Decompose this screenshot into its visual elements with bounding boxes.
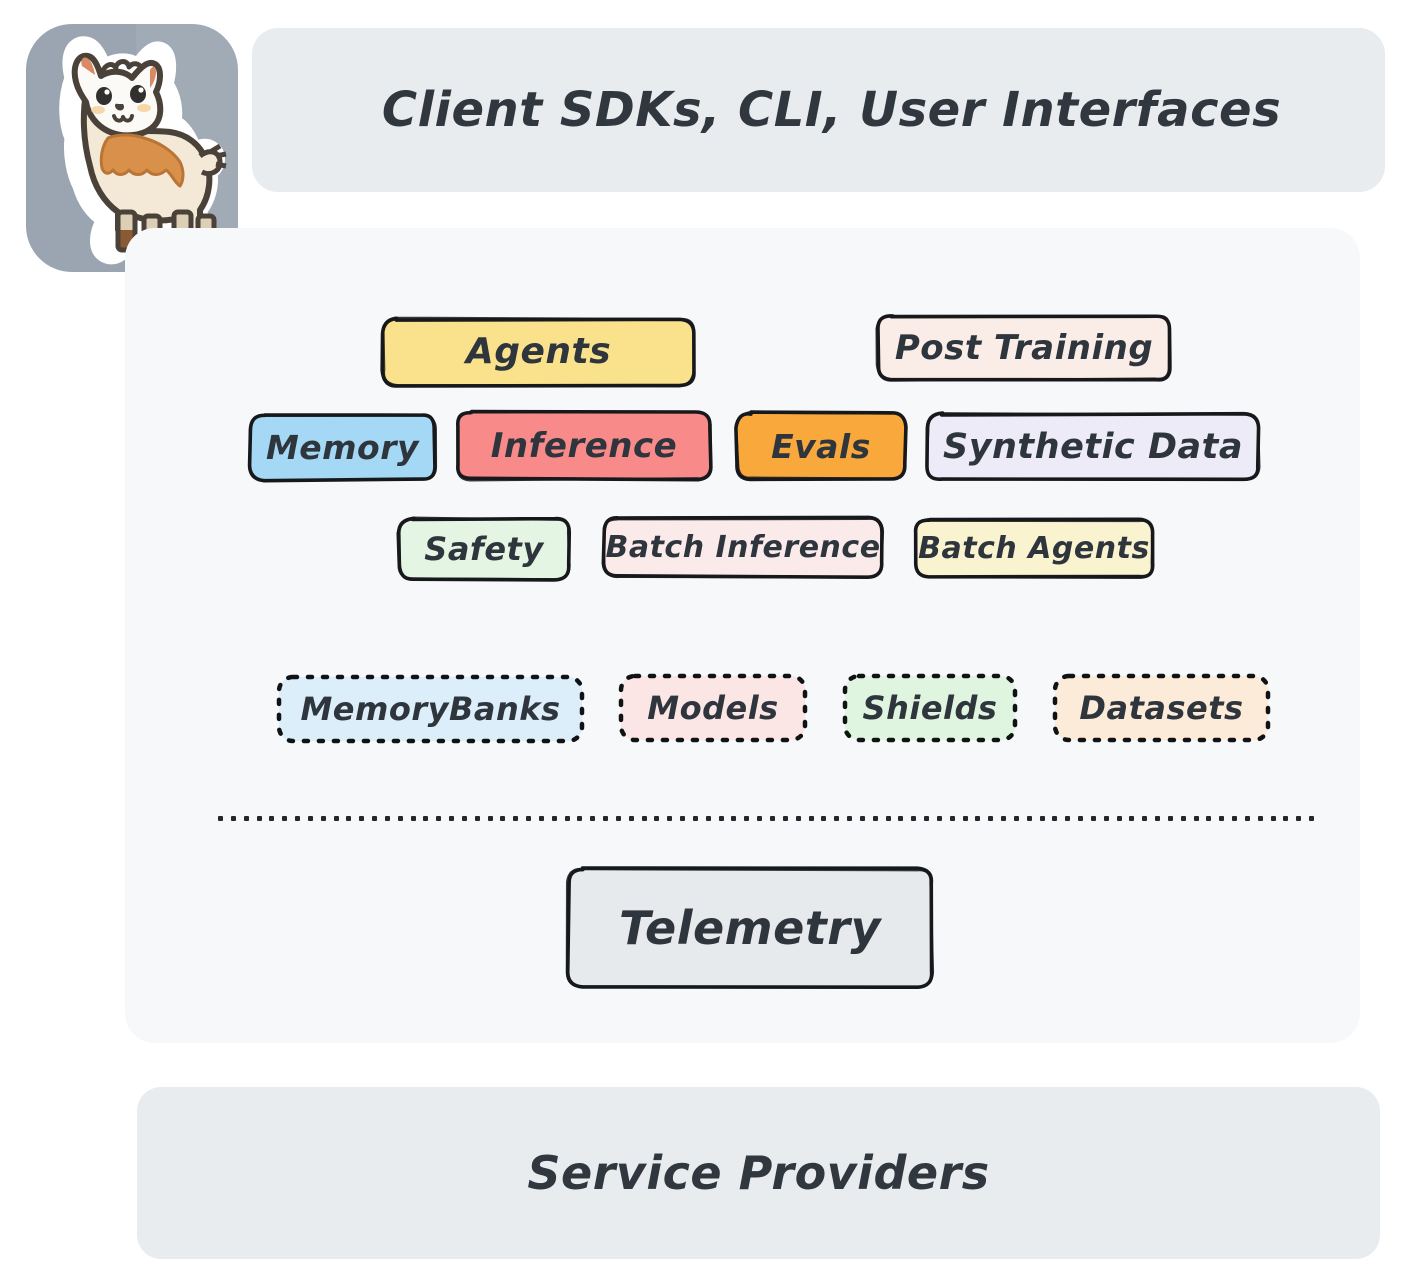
resource-box-memorybanks[interactable]: MemoryBanks xyxy=(279,677,582,741)
divider-dot xyxy=(1001,816,1006,821)
divider-dot xyxy=(513,816,518,821)
box-label: Synthetic Data xyxy=(943,430,1243,465)
divider-dot xyxy=(295,816,300,821)
divider-dot xyxy=(796,816,801,821)
divider-dot xyxy=(269,816,274,821)
divider-dot xyxy=(488,816,493,821)
divider-dot xyxy=(783,816,788,821)
divider-dot xyxy=(616,816,621,821)
divider-dot xyxy=(873,816,878,821)
box-label: Datasets xyxy=(1079,692,1243,724)
service-providers-bar: Service Providers xyxy=(137,1087,1380,1259)
box-label: Telemetry xyxy=(619,905,881,951)
divider-dot xyxy=(218,816,223,821)
api-box-telemetry[interactable]: Telemetry xyxy=(568,869,932,986)
api-box-batch-inference[interactable]: Batch Inference xyxy=(604,518,882,577)
divider-dot xyxy=(975,816,980,821)
client-layer-bar: Client SDKs, CLI, User Interfaces xyxy=(252,28,1385,192)
divider-dot xyxy=(744,816,749,821)
divider-dot xyxy=(642,816,647,821)
divider-dot xyxy=(257,816,262,821)
resource-box-datasets[interactable]: Datasets xyxy=(1055,676,1268,740)
divider-dot xyxy=(1129,816,1134,821)
divider-dot xyxy=(398,816,403,821)
divider-dot xyxy=(924,816,929,821)
box-label: Models xyxy=(647,692,778,724)
divider-dot xyxy=(346,816,351,821)
divider-dot xyxy=(1052,816,1057,821)
divider-dot xyxy=(680,816,685,821)
api-box-evals[interactable]: Evals xyxy=(737,413,905,479)
api-box-agents[interactable]: Agents xyxy=(383,319,694,385)
api-box-synthetic-data[interactable]: Synthetic Data xyxy=(928,414,1258,480)
divider-dot xyxy=(1168,816,1173,821)
api-box-memory[interactable]: Memory xyxy=(250,415,435,480)
divider-dot xyxy=(436,816,441,821)
divider-dot xyxy=(1309,816,1314,821)
divider-dot xyxy=(1258,816,1263,821)
divider-dot xyxy=(359,816,364,821)
divider-dot xyxy=(1232,816,1237,821)
api-box-inference[interactable]: Inference xyxy=(457,412,711,479)
divider-dot xyxy=(1271,816,1276,821)
divider-dot xyxy=(411,816,416,821)
box-label: Inference xyxy=(491,429,677,463)
divider-dot xyxy=(321,816,326,821)
divider-dot xyxy=(449,816,454,821)
divider-dot xyxy=(500,816,505,821)
divider-dot xyxy=(1283,816,1288,821)
divider-dot xyxy=(1065,816,1070,821)
divider-dot xyxy=(282,816,287,821)
dotted-divider xyxy=(218,816,1322,821)
divider-dot xyxy=(1155,816,1160,821)
divider-dot xyxy=(629,816,634,821)
box-label: Memory xyxy=(266,431,419,464)
divider-dot xyxy=(462,816,467,821)
divider-dot xyxy=(1027,816,1032,821)
api-box-safety[interactable]: Safety xyxy=(399,519,569,579)
resource-box-shields[interactable]: Shields xyxy=(845,676,1015,740)
box-label: Batch Agents xyxy=(918,534,1150,564)
divider-dot xyxy=(911,816,916,821)
box-label: Batch Inference xyxy=(605,533,880,563)
divider-dot xyxy=(898,816,903,821)
divider-dot xyxy=(603,816,608,821)
divider-dot xyxy=(1194,816,1199,821)
divider-dot xyxy=(731,816,736,821)
divider-dot xyxy=(334,816,339,821)
divider-dot xyxy=(937,816,942,821)
divider-dot xyxy=(757,816,762,821)
divider-dot xyxy=(577,816,582,821)
divider-dot xyxy=(1219,816,1224,821)
divider-dot xyxy=(693,816,698,821)
box-label: Evals xyxy=(771,430,871,463)
divider-dot xyxy=(539,816,544,821)
divider-dot xyxy=(886,816,891,821)
divider-dot xyxy=(590,816,595,821)
divider-dot xyxy=(706,816,711,821)
resource-box-models[interactable]: Models xyxy=(621,676,805,740)
divider-dot xyxy=(1014,816,1019,821)
divider-dot xyxy=(770,816,775,821)
divider-dot xyxy=(1091,816,1096,821)
diagram-canvas: Client SDKs, CLI, User Interfaces xyxy=(0,0,1410,1268)
divider-dot xyxy=(1142,816,1147,821)
api-box-batch-agents[interactable]: Batch Agents xyxy=(915,520,1153,577)
divider-dot xyxy=(821,816,826,821)
divider-dot xyxy=(1104,816,1109,821)
client-layer-title: Client SDKs, CLI, User Interfaces xyxy=(252,28,1385,192)
divider-dot xyxy=(1245,816,1250,821)
divider-dot xyxy=(308,816,313,821)
divider-dot xyxy=(244,816,249,821)
divider-dot xyxy=(1296,816,1301,821)
api-box-post-training[interactable]: Post Training xyxy=(878,316,1170,380)
box-label: Post Training xyxy=(895,331,1153,365)
divider-dot xyxy=(385,816,390,821)
divider-dot xyxy=(809,816,814,821)
divider-dot xyxy=(1181,816,1186,821)
divider-dot xyxy=(423,816,428,821)
divider-dot xyxy=(372,816,377,821)
divider-dot xyxy=(1117,816,1122,821)
divider-dot xyxy=(860,816,865,821)
divider-dot xyxy=(1206,816,1211,821)
divider-dot xyxy=(1040,816,1045,821)
divider-dot xyxy=(834,816,839,821)
divider-dot xyxy=(654,816,659,821)
box-label: Agents xyxy=(466,334,611,370)
divider-dot xyxy=(526,816,531,821)
divider-dot xyxy=(988,816,993,821)
box-label: Shields xyxy=(863,692,998,724)
divider-dot xyxy=(950,816,955,821)
divider-dot xyxy=(565,816,570,821)
box-label: MemoryBanks xyxy=(300,693,560,725)
service-providers-title: Service Providers xyxy=(137,1087,1380,1259)
divider-dot xyxy=(963,816,968,821)
divider-dot xyxy=(1078,816,1083,821)
divider-dot xyxy=(475,816,480,821)
divider-dot xyxy=(231,816,236,821)
divider-dot xyxy=(719,816,724,821)
box-label: Safety xyxy=(424,533,543,565)
divider-dot xyxy=(847,816,852,821)
divider-dot xyxy=(552,816,557,821)
divider-dot xyxy=(667,816,672,821)
